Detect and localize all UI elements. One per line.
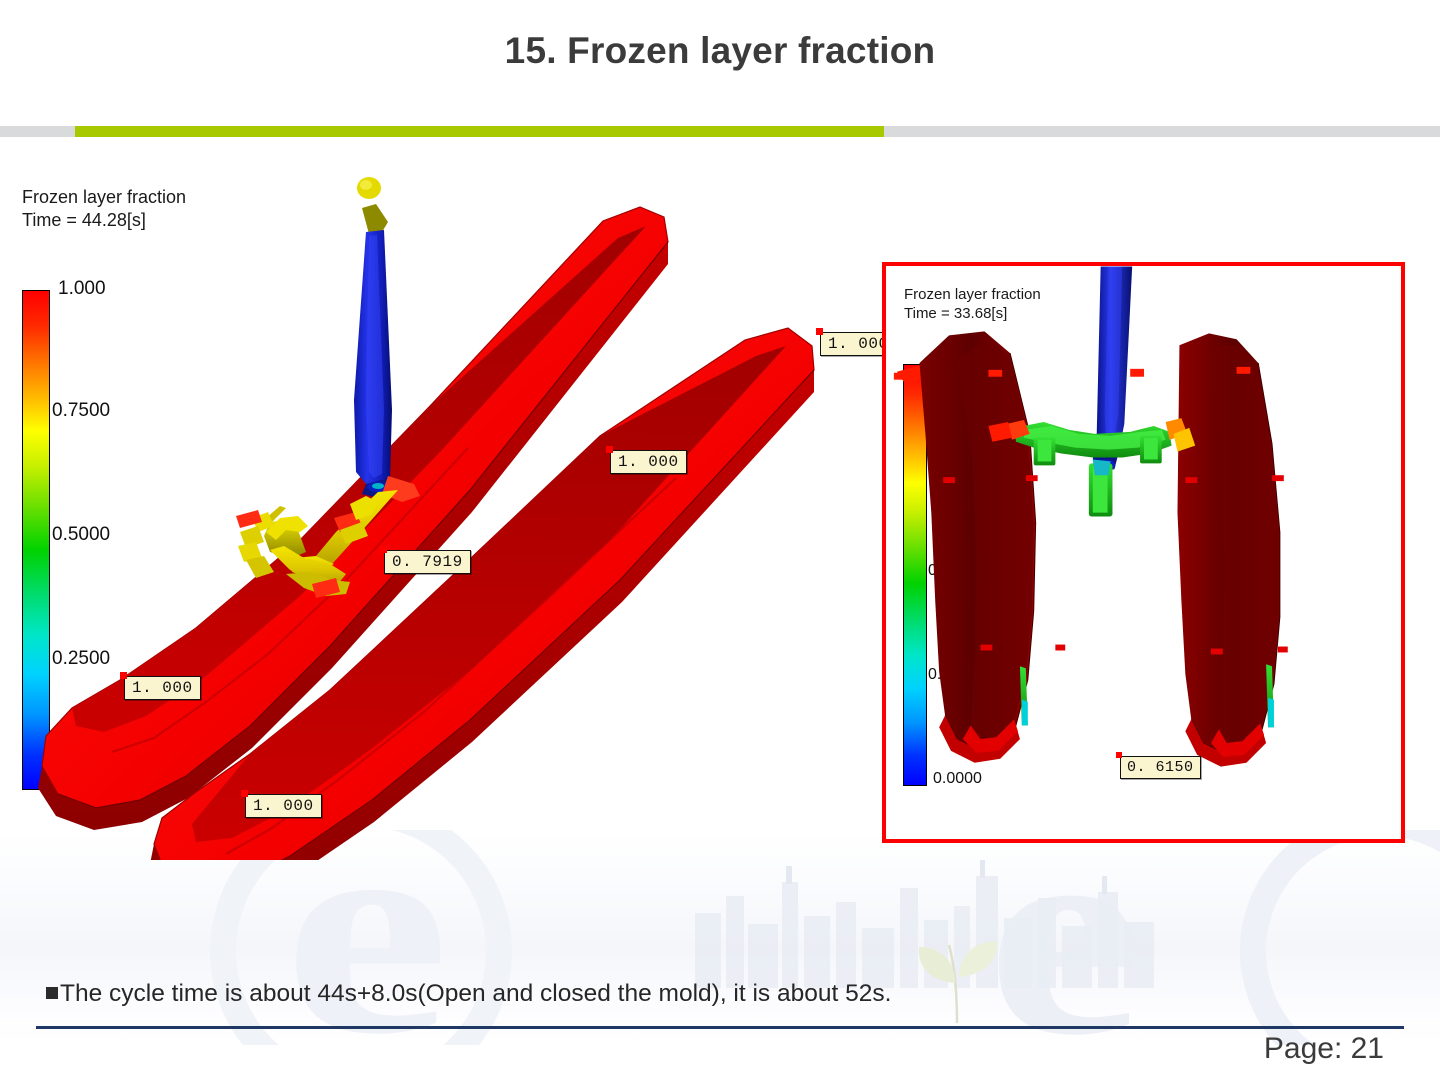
probe-marker-icon xyxy=(241,790,248,797)
probe-tag[interactable]: 0. 6150 xyxy=(1120,756,1201,779)
body-bullet: The cycle time is about 44s+8.0s(Open an… xyxy=(46,980,1386,1008)
probe-value: 1. 000 xyxy=(253,797,314,815)
inset-cavity-right xyxy=(1130,333,1288,766)
inset-model-geometry xyxy=(886,266,1401,839)
page-number: Page: 21 xyxy=(1264,1032,1384,1066)
inset-cavity-left xyxy=(894,331,1065,762)
probe-marker-icon xyxy=(1116,752,1122,758)
probe-marker-icon xyxy=(120,672,127,679)
page-title: 15. Frozen layer fraction xyxy=(0,30,1440,72)
probe-marker-icon xyxy=(380,546,387,553)
probe-tag[interactable]: 0. 7919 xyxy=(384,550,471,574)
watermark-letter-e-left: e xyxy=(283,830,449,1045)
main-model-geometry xyxy=(0,160,890,860)
watermark-leaf-icon xyxy=(905,925,1015,1025)
probe-tag[interactable]: 1. 000 xyxy=(245,794,322,818)
probe-marker-icon xyxy=(816,328,823,335)
header-rule-accent xyxy=(75,126,884,137)
footer-rule xyxy=(36,1026,1404,1029)
watermark-city-skyline-icon xyxy=(690,858,1160,988)
watermark-ring-left xyxy=(210,830,512,1045)
probe-tag[interactable]: 1. 000 xyxy=(610,450,687,474)
main-result-viewport[interactable]: Frozen layer fraction Time = 44.28[s] 1.… xyxy=(0,160,890,860)
watermark-letter-e-right: e xyxy=(987,830,1141,1045)
watermark-band xyxy=(0,830,1440,1045)
probe-value: 1. 000 xyxy=(828,335,889,353)
probe-value: 1. 000 xyxy=(618,453,679,471)
background-watermark: e e xyxy=(0,830,1440,1045)
bullet-square-icon xyxy=(46,987,58,999)
probe-value: 0. 6150 xyxy=(1127,759,1194,776)
watermark-ring-right xyxy=(1240,830,1440,1045)
sprue-blue xyxy=(354,177,394,498)
probe-value: 1. 000 xyxy=(132,679,193,697)
inset-result-viewport[interactable]: Frozen layer fraction Time = 33.68[s] 1.… xyxy=(882,262,1405,843)
probe-tag[interactable]: 1. 000 xyxy=(124,676,201,700)
probe-value: 0. 7919 xyxy=(392,553,463,571)
slide-root: e e 15. Frozen layer fracti xyxy=(0,0,1440,1079)
probe-marker-icon xyxy=(606,446,613,453)
bullet-text: The cycle time is about 44s+8.0s(Open an… xyxy=(60,980,891,1007)
